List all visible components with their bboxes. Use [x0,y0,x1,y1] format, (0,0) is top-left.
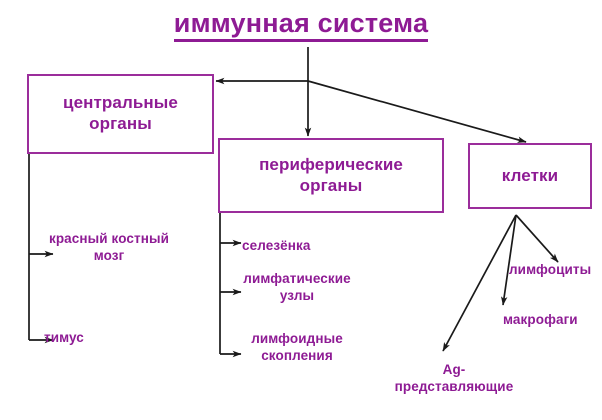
leaf-lymphocytes: лимфоциты [509,261,602,278]
immune-system-diagram: иммунная система [0,0,602,420]
leaf-antigen-presenting-cells: Ag- представляющие [384,361,524,396]
leaf-thymus: тимус [44,329,124,346]
node-cells[interactable]: клетки [468,143,592,209]
node-peripheral-organs-label: периферические органы [259,155,403,196]
leaf-lymph-nodes: лимфатические узлы [238,270,356,305]
leaf-spleen: селезёнка [242,237,352,254]
page-title: иммунная система [0,8,602,39]
node-peripheral-organs[interactable]: периферические органы [218,138,444,213]
title-branch-connectors [216,47,526,142]
node-cells-label: клетки [502,166,558,187]
leaf-red-bone-marrow: красный костный мозг [30,230,188,265]
node-central-organs-label: центральные органы [63,93,178,134]
page-title-text: иммунная система [174,8,428,42]
leaf-macrophages: макрофаги [503,311,602,328]
cells-fan-connectors [443,215,558,351]
node-central-organs[interactable]: центральные органы [27,74,214,154]
leaf-lymphoid-aggregates: лимфоидные скопления [238,330,356,365]
